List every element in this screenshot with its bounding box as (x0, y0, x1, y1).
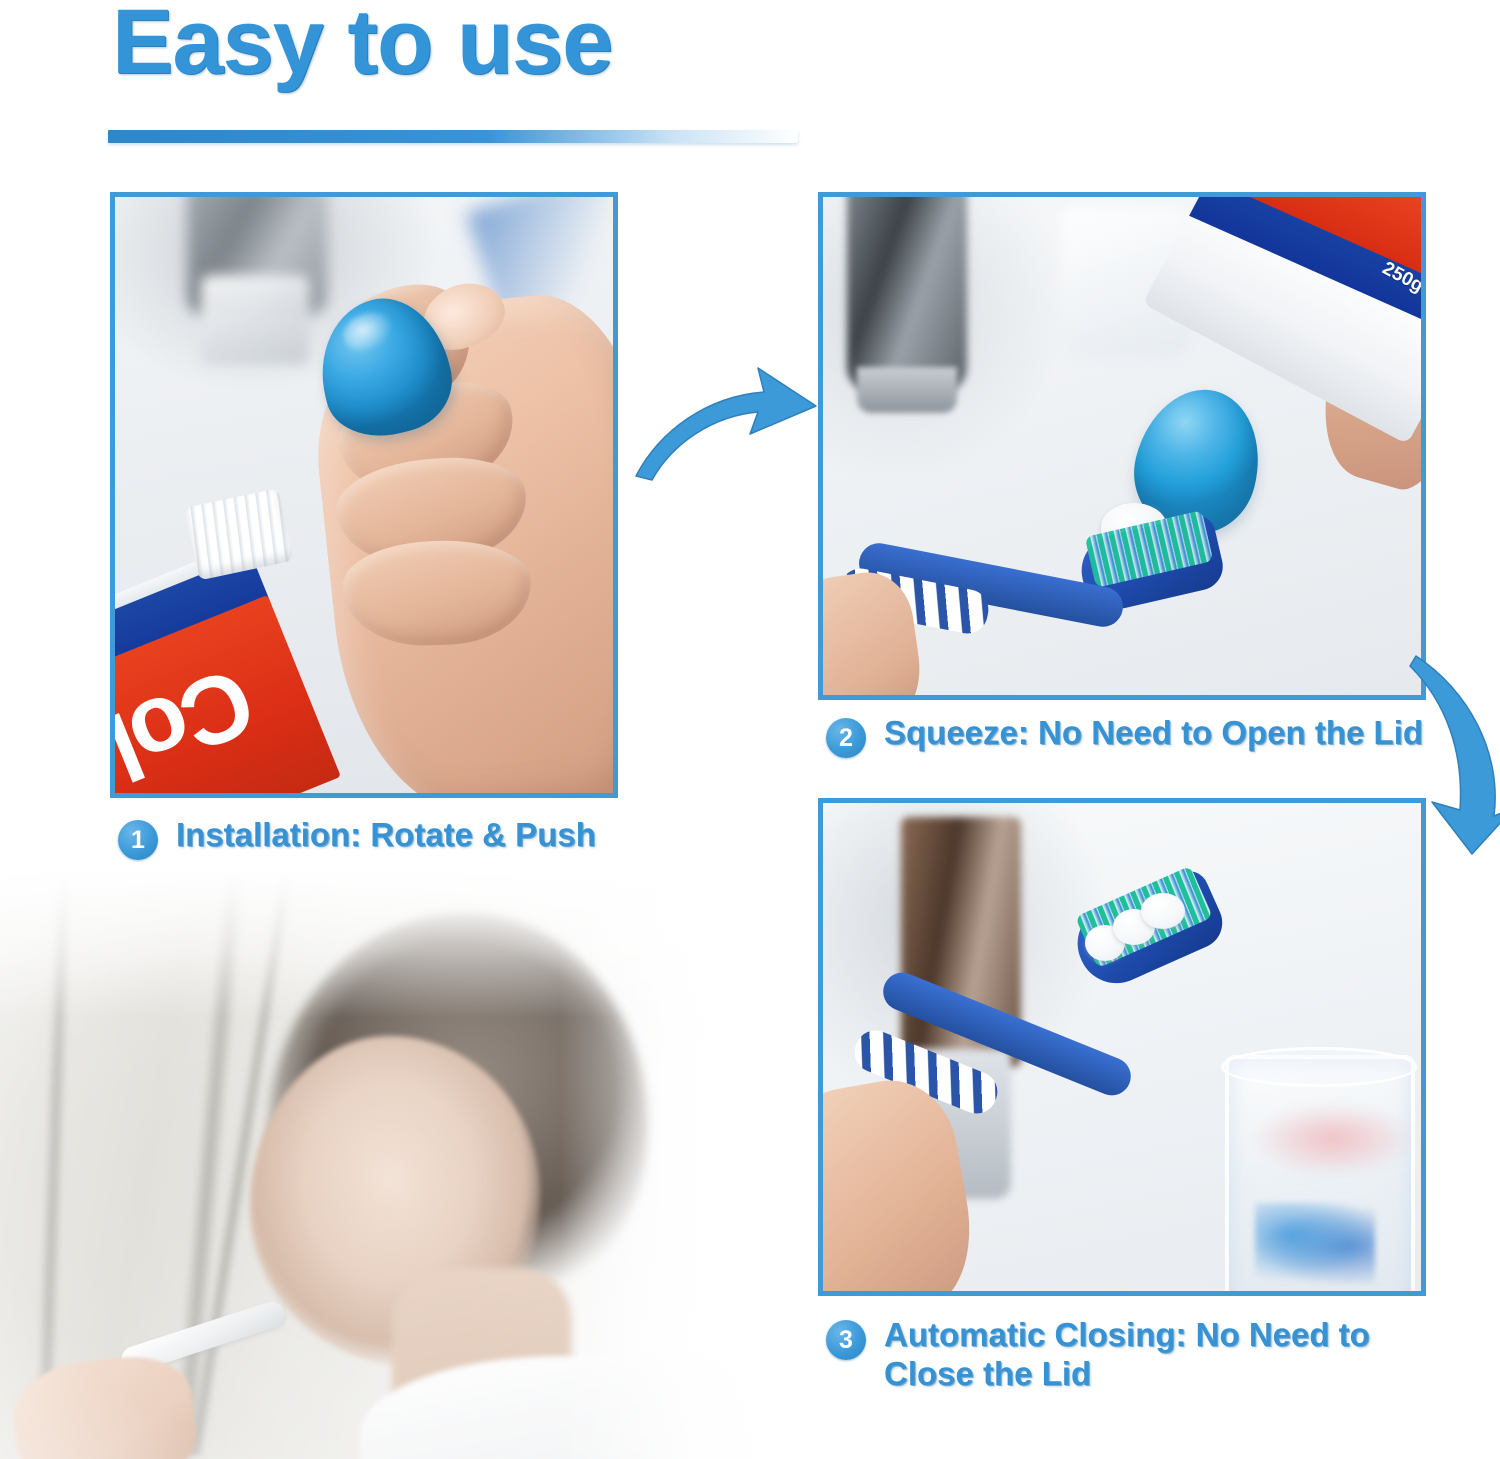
faucet-blur-icon (847, 197, 967, 393)
step-2-number-badge: 2 (826, 718, 866, 758)
lifestyle-photo-woman-brushing-teeth (0, 868, 800, 1459)
step-1-number-badge: 1 (118, 820, 158, 860)
photo-automatic-closing (823, 803, 1421, 1291)
step-3-number-badge: 3 (826, 1320, 866, 1360)
step-3-photo-panel (818, 798, 1426, 1296)
step-1-photo-panel: 250g Col (110, 192, 618, 798)
glass-blue-reflection (1255, 1203, 1375, 1283)
step-1-caption-text: Installation: Rotate & Push (176, 816, 596, 855)
arrow-step1-to-step2-icon (630, 352, 820, 482)
page-title: Easy to use (112, 0, 612, 91)
glass-rim (1221, 1047, 1417, 1087)
step-2-caption-text: Squeeze: No Need to Open the Lid (884, 714, 1423, 753)
step-1-caption: 1 Installation: Rotate & Push (118, 816, 596, 860)
glass-pink-reflection (1253, 1103, 1413, 1175)
step-2-caption: 2 Squeeze: No Need to Open the Lid (826, 714, 1423, 758)
step-3-caption-text: Automatic Closing: No Need to Close the … (884, 1316, 1370, 1394)
faucet-base (857, 367, 957, 413)
toothpaste-dollop (1141, 893, 1185, 929)
step-2-photo-panel: Co 250g (818, 192, 1426, 700)
photo-squeeze-no-need-to-open-lid: Co 250g (823, 197, 1421, 695)
step-3-caption: 3 Automatic Closing: No Need to Close th… (826, 1316, 1370, 1394)
soap-dispenser-blur-icon (201, 275, 309, 365)
photo-right-fade (560, 868, 800, 1459)
title-underline-rule (108, 130, 798, 143)
photo-installation-rotate-push: 250g Col (115, 197, 613, 793)
